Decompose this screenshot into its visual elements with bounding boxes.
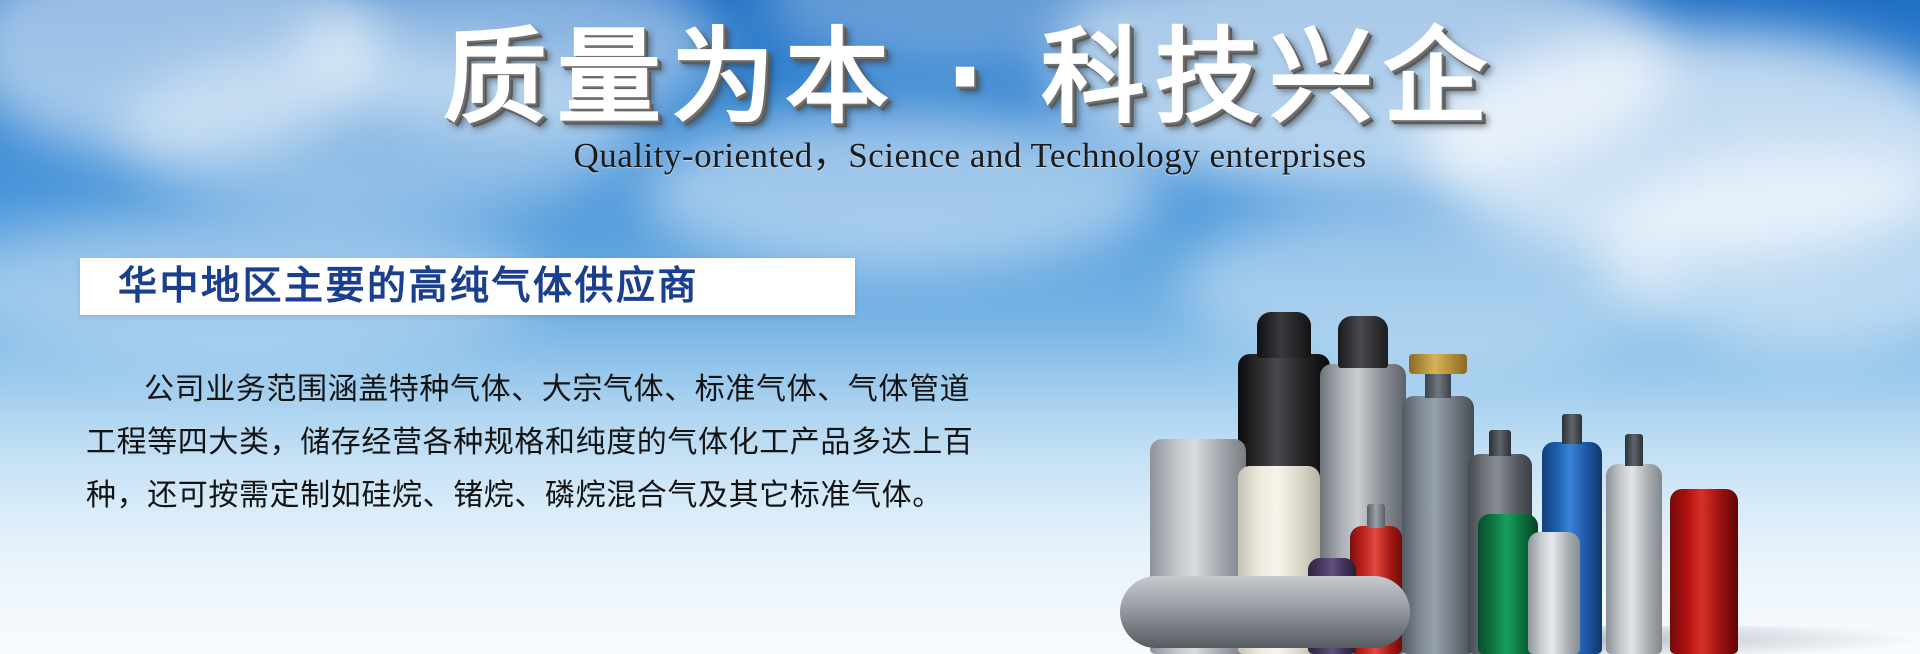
- silver-cylinder: [1528, 532, 1580, 654]
- cylinder-neck: [1625, 434, 1643, 466]
- callout-text: 华中地区主要的高纯气体供应商: [80, 266, 699, 308]
- cylinder-neck: [1367, 504, 1385, 528]
- banner-subtitle: Quality-oriented，Science and Technology …: [0, 136, 1920, 176]
- gas-cylinder-product-group: [1160, 234, 1920, 654]
- paragraph-line: 公司业务范围涵盖特种气体、大宗气体、标准气体、气体管道: [86, 363, 861, 416]
- teal-valve-cylinder: [1402, 396, 1474, 654]
- cylinder-cap: [1338, 316, 1388, 368]
- cylinder-valve: [1409, 354, 1467, 374]
- description-paragraph: 公司业务范围涵盖特种气体、大宗气体、标准气体、气体管道 工程等四大类，储存经营各…: [86, 363, 861, 522]
- promotional-banner: 质量为本 · 科技兴企 Quality-oriented，Science and…: [0, 0, 1920, 654]
- silver-cylinder: [1606, 464, 1662, 654]
- paragraph-line: 工程等四大类，储存经营各种规格和纯度的气体化工产品多达上百: [86, 416, 861, 469]
- paragraph-line: 种，还可按需定制如硅烷、锗烷、磷烷混合气及其它标准气体。: [86, 469, 861, 522]
- horizontal-gray-tank: [1120, 576, 1410, 648]
- cylinder-neck: [1425, 370, 1451, 398]
- cylinder-neck: [1489, 430, 1511, 456]
- callout-box: 华中地区主要的高纯气体供应商: [80, 258, 855, 315]
- cylinder-cap: [1257, 312, 1311, 358]
- banner-headline: 质量为本 · 科技兴企: [0, 22, 1920, 132]
- red-tall-cylinder: [1670, 489, 1738, 654]
- cylinder-neck: [1562, 414, 1582, 444]
